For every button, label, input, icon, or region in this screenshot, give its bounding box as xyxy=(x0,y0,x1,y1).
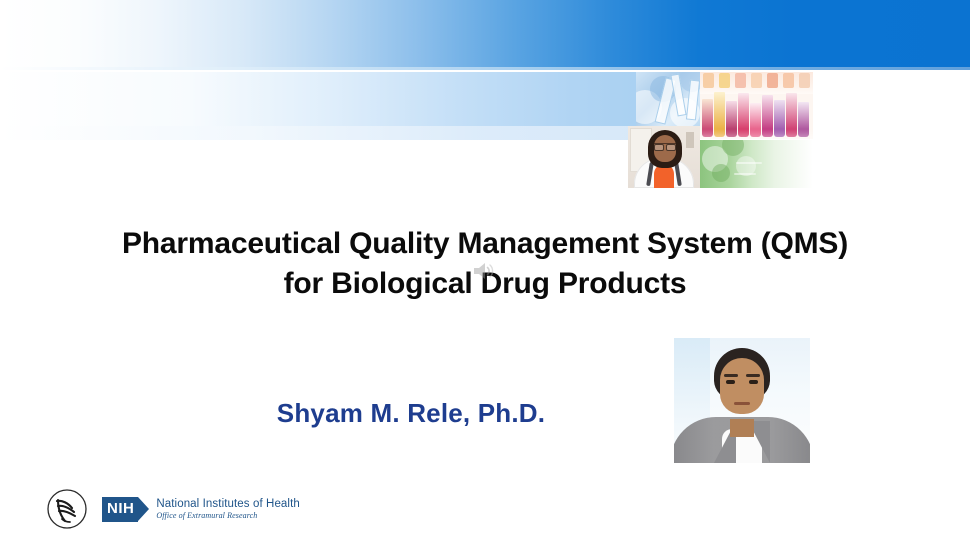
nih-arrow-icon xyxy=(138,497,149,521)
science-image-collage xyxy=(628,70,814,188)
presentation-slide: Pharmaceutical Quality Management System… xyxy=(0,0,970,543)
nih-mark-text: NIH xyxy=(102,497,138,522)
footer-logos: NIH National Institutes of Health Office… xyxy=(46,486,300,532)
light-blue-band xyxy=(0,72,637,126)
nih-logo-text: National Institutes of Health Office of … xyxy=(156,498,300,520)
test-tubes-image xyxy=(700,72,813,139)
green-molecular-image xyxy=(700,140,813,188)
hhs-seal-icon xyxy=(46,488,88,530)
presenter-photo xyxy=(674,338,810,463)
nih-logo: NIH National Institutes of Health Office… xyxy=(102,497,300,522)
nih-subtitle: Office of Extramural Research xyxy=(156,512,300,520)
dna-lab-glassware-image xyxy=(636,72,700,126)
light-blue-band-fade xyxy=(0,126,637,140)
top-blue-banner xyxy=(0,0,970,67)
nih-mark-icon: NIH xyxy=(102,497,149,522)
speaker-icon[interactable] xyxy=(472,261,494,281)
doctor-portrait-image xyxy=(628,126,700,188)
presenter-name: Shyam M. Rele, Ph.D. xyxy=(0,398,970,429)
banner-bottom-edge xyxy=(0,67,970,70)
slide-title-line-1: Pharmaceutical Quality Management System… xyxy=(0,224,970,264)
nih-title: National Institutes of Health xyxy=(156,498,300,510)
